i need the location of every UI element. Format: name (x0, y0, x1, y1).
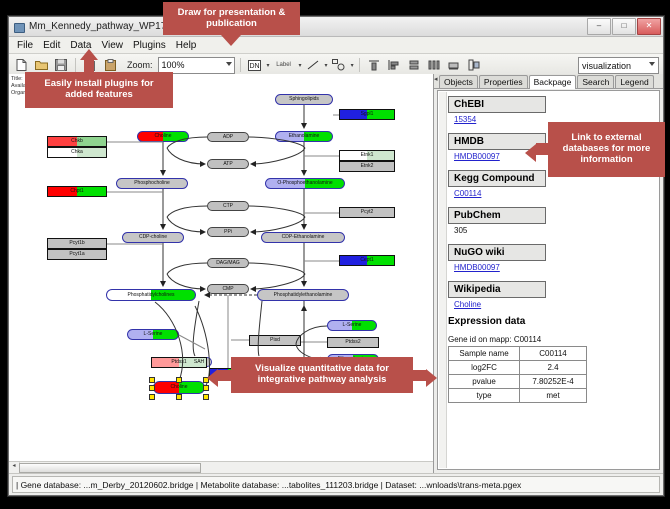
db-link-kegg-compound[interactable]: C00114 (454, 189, 657, 198)
window-controls[interactable]: – □ ✕ (587, 18, 661, 35)
backpage-scrollbar[interactable] (439, 92, 447, 468)
resize-handle-se[interactable] (203, 394, 209, 400)
align-top-icon[interactable] (365, 56, 383, 74)
expr-key-log2fc: log2FC (449, 361, 520, 375)
expr-key-pvalue: pvalue (449, 375, 520, 389)
db-link-wikipedia[interactable]: Choline (454, 300, 657, 309)
status-text: | Gene database: ...m_Derby_20120602.bri… (12, 476, 660, 493)
resize-handle-w[interactable] (149, 385, 155, 391)
table-row: pvalue 7.80252E-4 (449, 375, 587, 389)
selection-group-choline[interactable]: Choline (147, 375, 213, 400)
callout-plugins-arrow-icon (80, 49, 98, 60)
label-tool-icon[interactable]: Label (272, 56, 296, 74)
expr-key-type: type (449, 389, 520, 403)
expr-val-log2fc: 2.4 (520, 361, 587, 375)
expr-val-pvalue: 7.80252E-4 (520, 375, 587, 389)
distribute-icon[interactable] (425, 56, 443, 74)
svg-text:DN: DN (249, 63, 259, 70)
maximize-button[interactable]: □ (612, 18, 636, 35)
expr-val-type: met (520, 389, 587, 403)
minimize-button[interactable]: – (587, 18, 611, 35)
resize-handle-nw[interactable] (149, 377, 155, 383)
title-bar: Mm_Kennedy_pathway_WP1771_45176.gpml – □… (9, 17, 663, 37)
db-value-pubchem: 305 (454, 226, 657, 235)
resize-handle-sw[interactable] (149, 394, 155, 400)
tab-objects[interactable]: Objects (439, 75, 478, 88)
pathway-canvas[interactable]: Title: Availa Organi (9, 74, 434, 473)
tab-search[interactable]: Search (577, 75, 614, 88)
line-tool-icon[interactable] (304, 56, 322, 74)
expr-val-sample-name: C00114 (520, 347, 587, 361)
toolbar-separator-2 (240, 58, 241, 72)
menu-edit[interactable]: Edit (38, 39, 65, 52)
align-left-icon[interactable] (385, 56, 403, 74)
pathvisio-icon (13, 21, 25, 33)
chevron-down-icon (649, 62, 655, 66)
db-header-nugo-wiki: NuGO wiki (448, 244, 546, 261)
chevron-down-icon (226, 62, 232, 66)
expression-data-heading: Expression data (448, 316, 657, 327)
menu-bar: File Edit Data View Plugins Help (9, 37, 663, 54)
db-link-nugo-wiki[interactable]: HMDB00097 (454, 263, 657, 272)
shape-dropdown-icon[interactable]: ▾ (351, 62, 354, 69)
expression-table: Sample name C00114 log2FC 2.4 pvalue 7.8… (448, 346, 587, 403)
visualization-combo[interactable]: visualization (578, 57, 659, 74)
tab-properties[interactable]: Properties (479, 75, 528, 88)
callout-visualize: Visualize quantitative data for integrat… (231, 357, 413, 393)
menu-view[interactable]: View (96, 39, 128, 52)
tab-backpage[interactable]: Backpage (529, 75, 577, 89)
callout-visualize-stem-left (218, 370, 232, 381)
db-header-chebi: ChEBI (448, 96, 546, 113)
table-row: Sample name C00114 (449, 347, 587, 361)
zoom-label: Zoom: (127, 60, 153, 70)
callout-visualize-stem-right (412, 370, 426, 381)
label-dropdown-icon[interactable]: ▾ (299, 62, 302, 69)
stack-vertical-icon[interactable] (405, 56, 423, 74)
table-row: log2FC 2.4 (449, 361, 587, 375)
zoom-value: 100% (162, 60, 185, 70)
zoom-combo[interactable]: 100% (158, 57, 235, 74)
table-row: type met (449, 389, 587, 403)
resize-handle-n[interactable] (176, 377, 182, 383)
order-icon[interactable] (465, 56, 483, 74)
db-header-kegg-compound: Kegg Compound (448, 170, 546, 187)
expr-key-sample-name: Sample name (449, 347, 520, 361)
toolbar-separator-1 (75, 58, 76, 72)
visualization-value: visualization (582, 61, 631, 71)
side-panel-tabs: ◂ Objects Properties Backpage Search Leg… (434, 74, 663, 89)
line-dropdown-icon[interactable]: ▾ (325, 62, 328, 69)
db-header-pubchem: PubChem (448, 207, 546, 224)
callout-plugins: Easily install plugins for added feature… (25, 72, 173, 108)
callout-links: Link to external databases for more info… (548, 122, 665, 177)
callout-draw-arrow-icon (221, 35, 241, 46)
callout-links-arrow-icon (525, 144, 536, 162)
status-bar: | Gene database: ...m_Derby_20120602.bri… (9, 473, 663, 495)
shape-tool-icon[interactable] (330, 56, 348, 74)
menu-file[interactable]: File (12, 39, 38, 52)
datanode-dropdown-icon[interactable]: ▾ (267, 62, 270, 69)
db-header-wikipedia: Wikipedia (448, 281, 546, 298)
toolbar-separator-3 (359, 58, 360, 72)
menu-plugins[interactable]: Plugins (128, 39, 171, 52)
tab-legend[interactable]: Legend (615, 75, 653, 88)
gene-id-line: Gene id on mapp: C00114 (448, 335, 657, 344)
menu-help[interactable]: Help (171, 39, 202, 52)
datanode-icon[interactable]: DN (246, 56, 264, 74)
pathway-edges (9, 74, 433, 473)
callout-visualize-arrow-right-icon (426, 369, 437, 387)
tab-scroll-left-icon[interactable]: ◂ (434, 75, 438, 83)
close-button[interactable]: ✕ (637, 18, 661, 35)
callout-draw: Draw for presentation & publication (163, 2, 300, 35)
callout-visualize-arrow-left-icon (207, 369, 218, 387)
resize-handle-s[interactable] (176, 394, 182, 400)
group-icon[interactable] (445, 56, 463, 74)
